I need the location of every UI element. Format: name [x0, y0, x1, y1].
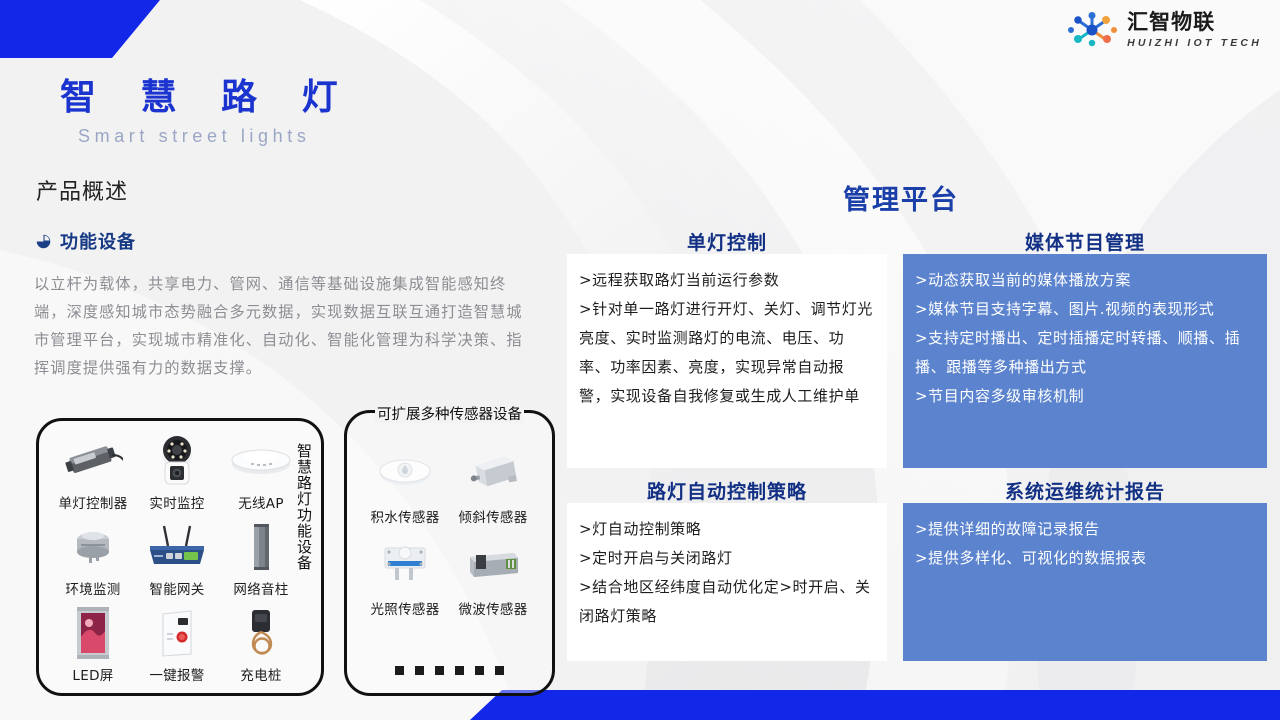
device-label: 无线AP — [238, 495, 284, 513]
device-label: LED屏 — [72, 667, 113, 685]
sensor-more-dots — [347, 666, 552, 675]
pie-chart-icon — [36, 234, 51, 249]
card-line: >提供多样化、可视化的数据报表 — [915, 544, 1255, 573]
ptz-camera-icon — [135, 427, 219, 495]
brand-logo: 汇智物联 HUIZHI IOT TECH — [1068, 10, 1262, 50]
charging-pile-icon — [219, 599, 303, 667]
sensor-item-microwave: 微波传感器 — [449, 527, 537, 619]
dot — [455, 666, 464, 675]
device-item-ptz-camera: 实时监控 — [135, 427, 219, 513]
light-sensor-icon — [361, 527, 449, 601]
device-item-charging-pile: 充电桩 — [219, 599, 303, 685]
dot — [415, 666, 424, 675]
card-single-lamp-control: >远程获取路灯当前运行参数 >针对单一路灯进行开灯、关灯、调节灯光亮度、实时监测… — [567, 254, 887, 468]
microwave-sensor-icon — [449, 527, 537, 601]
card-line: >提供详细的故障记录报告 — [915, 515, 1255, 544]
device-label: 智能网关 — [149, 581, 204, 599]
card-title-system-ops-report: 系统运维统计报告 — [903, 477, 1267, 504]
page-title-cn: 智 慧 路 灯 — [60, 68, 354, 120]
environment-monitor-icon — [51, 513, 135, 581]
card-line: >结合地区经纬度自动优化定>时开启、关闭路灯策略 — [579, 573, 875, 631]
device-label: 充电桩 — [240, 667, 281, 685]
card-line: >动态获取当前的媒体播放方案 — [915, 266, 1255, 295]
device-item-led-driver: 单灯控制器 — [51, 427, 135, 513]
sensor-label: 积水传感器 — [371, 509, 440, 527]
device-label: 一键报警 — [149, 667, 204, 685]
device-label: 环境监测 — [65, 581, 120, 599]
slide-canvas: 汇智物联 HUIZHI IOT TECH 智 慧 路 灯 Smart stree… — [0, 0, 1280, 720]
card-line: >灯自动控制策略 — [579, 515, 875, 544]
card-line: >媒体节目支持字幕、图片.视频的表现形式 — [915, 295, 1255, 324]
card-line: >节目内容多级审核机制 — [915, 382, 1255, 411]
molecule-network-icon — [1068, 10, 1118, 50]
dot — [495, 666, 504, 675]
card-line: >针对单一路灯进行开灯、关灯、调节灯光亮度、实时监测路灯的电流、电压、功率、功率… — [579, 295, 875, 411]
device-item-led-screen: LED屏 — [51, 599, 135, 685]
device-item-environment-monitor: 环境监测 — [51, 513, 135, 599]
device-item-smart-gateway: 智能网关 — [135, 513, 219, 599]
card-title-single-lamp-control: 单灯控制 — [567, 228, 887, 255]
wireless-ap-icon — [219, 427, 303, 495]
device-label: 实时监控 — [149, 495, 204, 513]
device-item-wireless-ap: 无线AP — [219, 427, 303, 513]
sensor-item-tilt: 倾斜传感器 — [449, 435, 537, 527]
led-driver-icon — [51, 427, 135, 495]
card-title-media-program-management: 媒体节目管理 — [903, 228, 1267, 255]
card-media-program-management: >动态获取当前的媒体播放方案 >媒体节目支持字幕、图片.视频的表现形式 >支持定… — [903, 254, 1267, 468]
water-sensor-icon — [361, 435, 449, 509]
function-devices-box: 单灯控制器 — [36, 418, 324, 696]
sensor-item-light: 光照传感器 — [361, 527, 449, 619]
card-line: >远程获取路灯当前运行参数 — [579, 266, 875, 295]
logo-wordmark: 汇智物联 HUIZHI IOT TECH — [1127, 12, 1262, 49]
card-line: >定时开启与关闭路灯 — [579, 544, 875, 573]
sensor-label: 倾斜传感器 — [459, 509, 528, 527]
device-item-network-speaker: 网络音柱 — [219, 513, 303, 599]
sensor-label: 微波传感器 — [459, 601, 528, 619]
sensor-box-heading: 可扩展多种传感器设备 — [347, 403, 552, 424]
card-title-street-lamp-auto-strategy: 路灯自动控制策略 — [567, 477, 887, 504]
led-screen-icon — [51, 599, 135, 667]
bottom-blue-band — [470, 690, 1280, 720]
function-devices-grid: 单灯控制器 — [51, 427, 303, 685]
dot — [395, 666, 404, 675]
device-box-vertical-label: 智慧路灯功能设备 — [293, 443, 315, 571]
platform-title: 管理平台 — [843, 178, 959, 217]
logo-name-cn: 汇智物联 — [1127, 12, 1262, 33]
sensor-item-water: 积水传感器 — [361, 435, 449, 527]
card-street-lamp-auto-strategy: >灯自动控制策略 >定时开启与关闭路灯 >结合地区经纬度自动优化定>时开启、关闭… — [567, 503, 887, 661]
tilt-sensor-icon — [449, 435, 537, 509]
network-speaker-icon — [219, 513, 303, 581]
overview-paragraph: 以立杆为载体，共享电力、管网、通信等基础设施集成智能感知终端，深度感知城市态势融… — [34, 270, 534, 382]
device-label: 网络音柱 — [233, 581, 288, 599]
subsection-label: 功能设备 — [60, 228, 136, 254]
sos-alarm-icon — [135, 599, 219, 667]
device-item-sos-alarm: 一键报警 — [135, 599, 219, 685]
smart-gateway-icon — [135, 513, 219, 581]
page-title-en: Smart street lights — [78, 126, 310, 147]
section-title-product-overview: 产品概述 — [36, 174, 128, 206]
card-system-ops-report: >提供详细的故障记录报告 >提供多样化、可视化的数据报表 — [903, 503, 1267, 661]
sensor-grid: 积水传感器 倾斜传感器 — [361, 435, 537, 619]
logo-name-en: HUIZHI IOT TECH — [1127, 38, 1262, 49]
expandable-sensors-box: 可扩展多种传感器设备 积水传感器 — [344, 410, 555, 696]
subsection-function-devices: 功能设备 — [36, 228, 136, 254]
device-label: 单灯控制器 — [59, 495, 128, 513]
card-line: >支持定时播出、定时插播定时转播、顺播、插播、跟播等多种播出方式 — [915, 324, 1255, 382]
sensor-label: 光照传感器 — [371, 601, 440, 619]
dot — [475, 666, 484, 675]
dot — [435, 666, 444, 675]
